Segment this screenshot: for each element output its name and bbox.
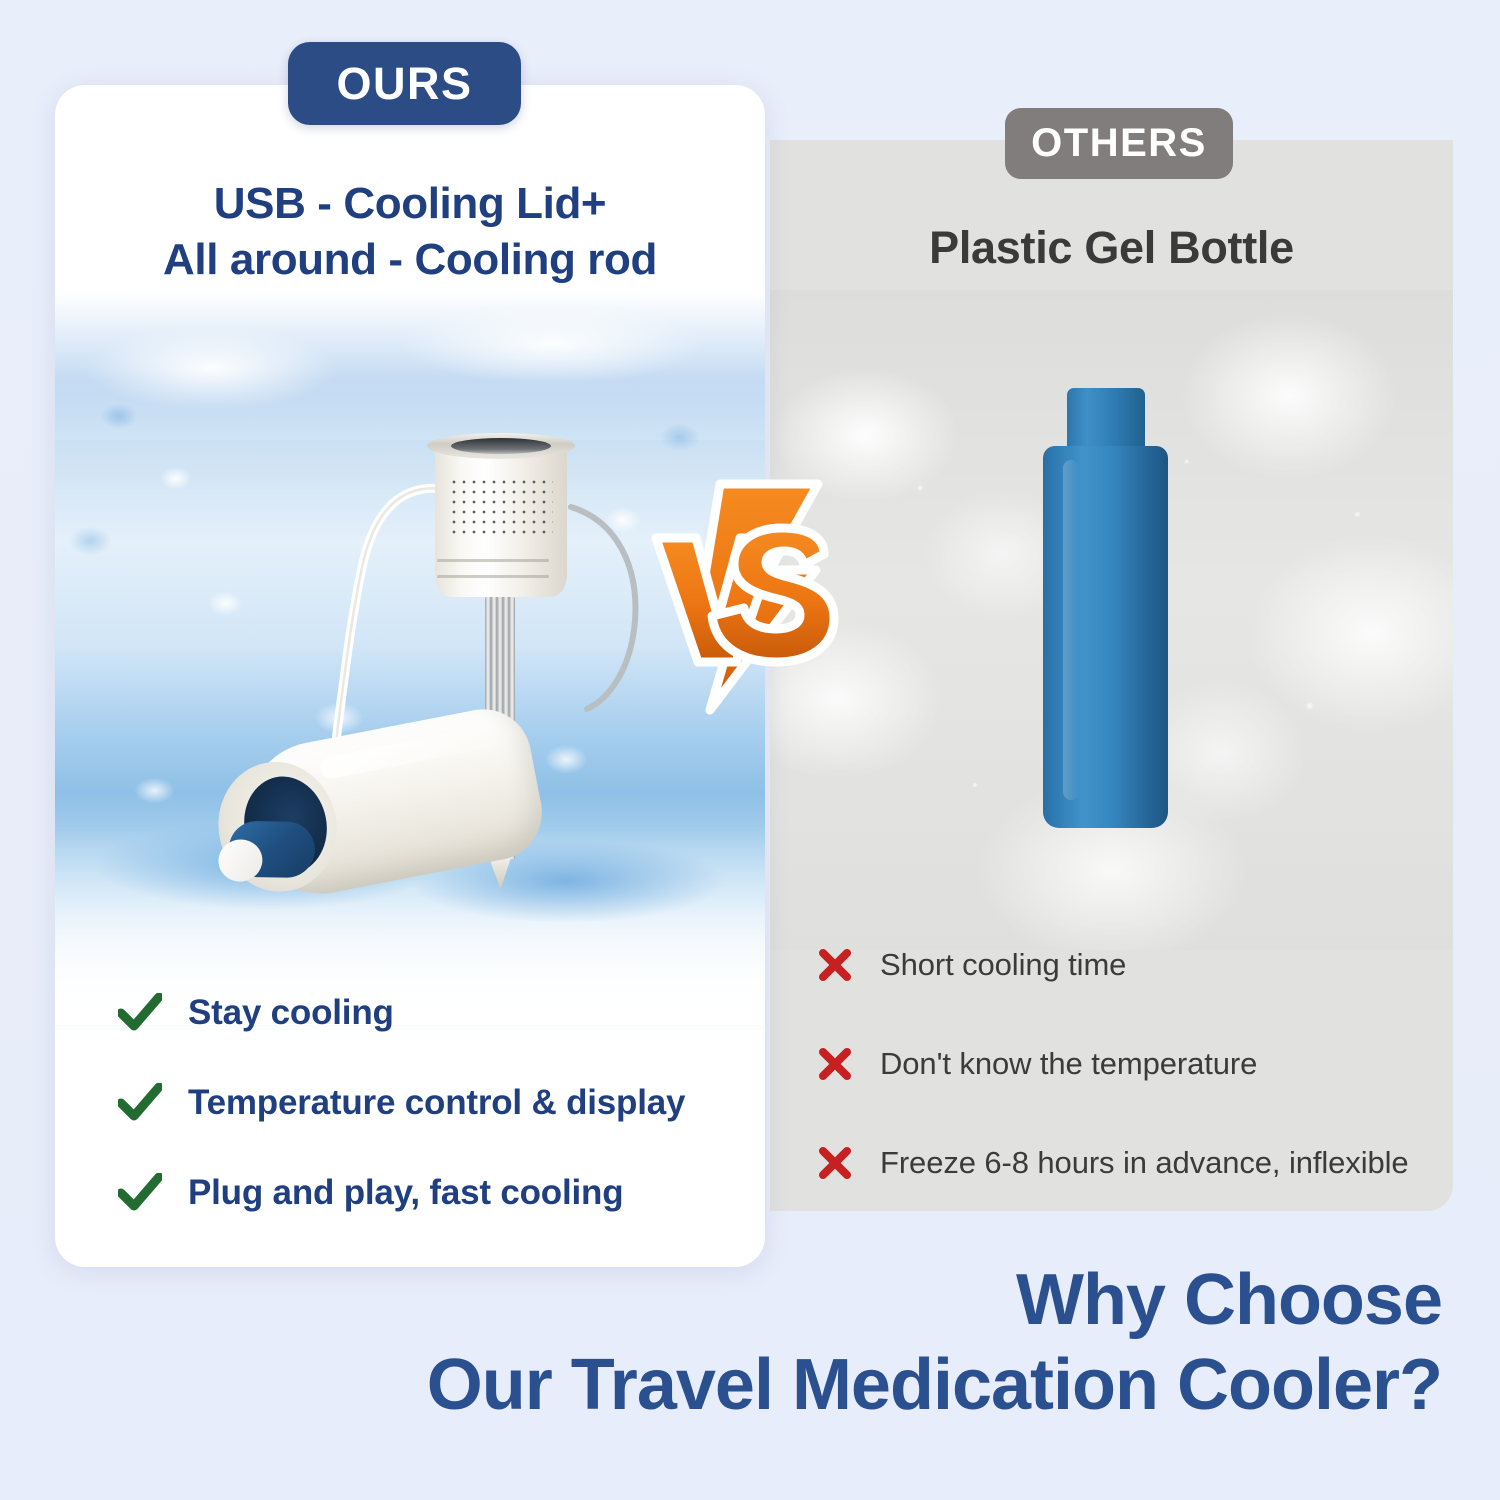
cooler-bottle-highlight bbox=[318, 724, 499, 780]
cooling-lid-image bbox=[427, 433, 575, 605]
x-icon bbox=[818, 948, 852, 982]
ours-heading-line-2: All around - Cooling rod bbox=[55, 232, 765, 288]
vs-badge bbox=[648, 466, 858, 716]
cooling-lid-ring-upper bbox=[437, 559, 549, 562]
drawback-label: Don't know the temperature bbox=[880, 1046, 1257, 1082]
ours-badge-label: OURS bbox=[336, 58, 472, 110]
gel-bottle-image bbox=[1043, 388, 1168, 828]
page-title: Why Choose Our Travel Medication Cooler? bbox=[427, 1258, 1442, 1428]
ours-heading: USB - Cooling Lid+ All around - Cooling … bbox=[55, 176, 765, 289]
x-icon bbox=[818, 1047, 852, 1081]
feature-label: Stay cooling bbox=[188, 993, 394, 1033]
cooling-lid-vent-holes bbox=[449, 477, 553, 535]
check-icon bbox=[118, 993, 162, 1033]
others-badge-label: OTHERS bbox=[1031, 121, 1207, 166]
list-item: Short cooling time bbox=[818, 915, 1448, 1014]
cooling-lid-opening bbox=[451, 438, 551, 454]
page-title-line-2: Our Travel Medication Cooler? bbox=[427, 1343, 1442, 1428]
lanyard-strap-image bbox=[565, 503, 645, 713]
gel-bottle-body bbox=[1043, 446, 1168, 828]
x-icon bbox=[818, 1146, 852, 1180]
list-item: Temperature control & display bbox=[118, 1058, 738, 1148]
ours-badge: OURS bbox=[288, 42, 521, 125]
list-item: Plug and play, fast cooling bbox=[118, 1148, 738, 1238]
others-drawback-list: Short cooling time Don't know the temper… bbox=[818, 915, 1448, 1212]
cooling-lid-ring-lower bbox=[437, 575, 549, 578]
drawback-label: Short cooling time bbox=[880, 947, 1126, 983]
ours-heading-line-1: USB - Cooling Lid+ bbox=[55, 176, 765, 232]
list-item: Freeze 6-8 hours in advance, inflexible bbox=[818, 1113, 1448, 1212]
drawback-label: Freeze 6-8 hours in advance, inflexible bbox=[880, 1145, 1409, 1181]
list-item: Don't know the temperature bbox=[818, 1014, 1448, 1113]
page-title-line-1: Why Choose bbox=[427, 1258, 1442, 1343]
list-item: Stay cooling bbox=[118, 968, 738, 1058]
check-icon bbox=[118, 1083, 162, 1123]
others-heading: Plastic Gel Bottle bbox=[770, 222, 1453, 274]
ours-feature-list: Stay cooling Temperature control & displ… bbox=[118, 968, 738, 1238]
feature-label: Temperature control & display bbox=[188, 1083, 685, 1123]
check-icon bbox=[118, 1173, 162, 1213]
feature-label: Plug and play, fast cooling bbox=[188, 1173, 623, 1213]
infographic-canvas: OURS OTHERS USB - Cooling Lid+ All aroun… bbox=[0, 0, 1500, 1500]
gel-bottle-neck bbox=[1067, 388, 1145, 454]
others-badge: OTHERS bbox=[1005, 108, 1233, 179]
